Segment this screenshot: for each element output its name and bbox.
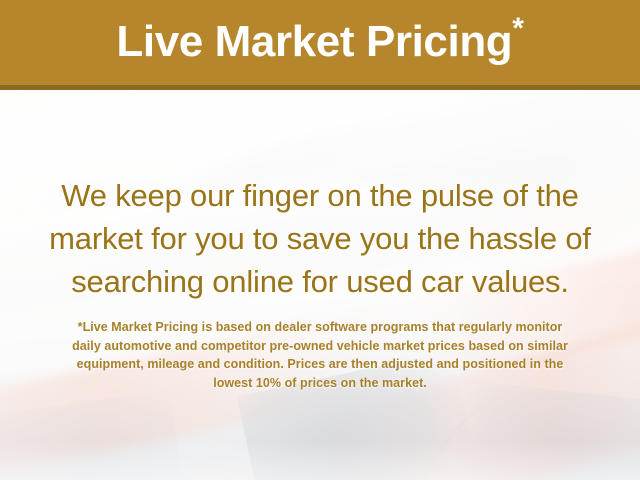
live-market-pricing-slide: Live Market Pricing* We keep our finger … — [0, 0, 640, 480]
headline-line-3: searching online for used car values. — [0, 260, 640, 303]
headline-line-1: We keep our finger on the pulse of the — [0, 174, 640, 217]
page-title-footnote-marker: * — [512, 12, 523, 45]
page-title: Live Market Pricing* — [116, 20, 523, 64]
disclaimer-line-3: equipment, mileage and condition. Prices… — [0, 355, 640, 374]
page-title-text: Live Market Pricing — [116, 17, 512, 66]
disclaimer-line-2: daily automotive and competitor pre-owne… — [0, 337, 640, 356]
header-band-bottom-edge — [0, 85, 640, 90]
headline-line-2: market for you to save you the hassle of — [0, 217, 640, 260]
disclaimer-line-1: *Live Market Pricing is based on dealer … — [0, 318, 640, 337]
disclaimer-line-4: lowest 10% of prices on the market. — [0, 374, 640, 393]
headline: We keep our finger on the pulse of the m… — [0, 174, 640, 303]
header-band: Live Market Pricing* — [0, 0, 640, 88]
disclaimer: *Live Market Pricing is based on dealer … — [0, 318, 640, 392]
